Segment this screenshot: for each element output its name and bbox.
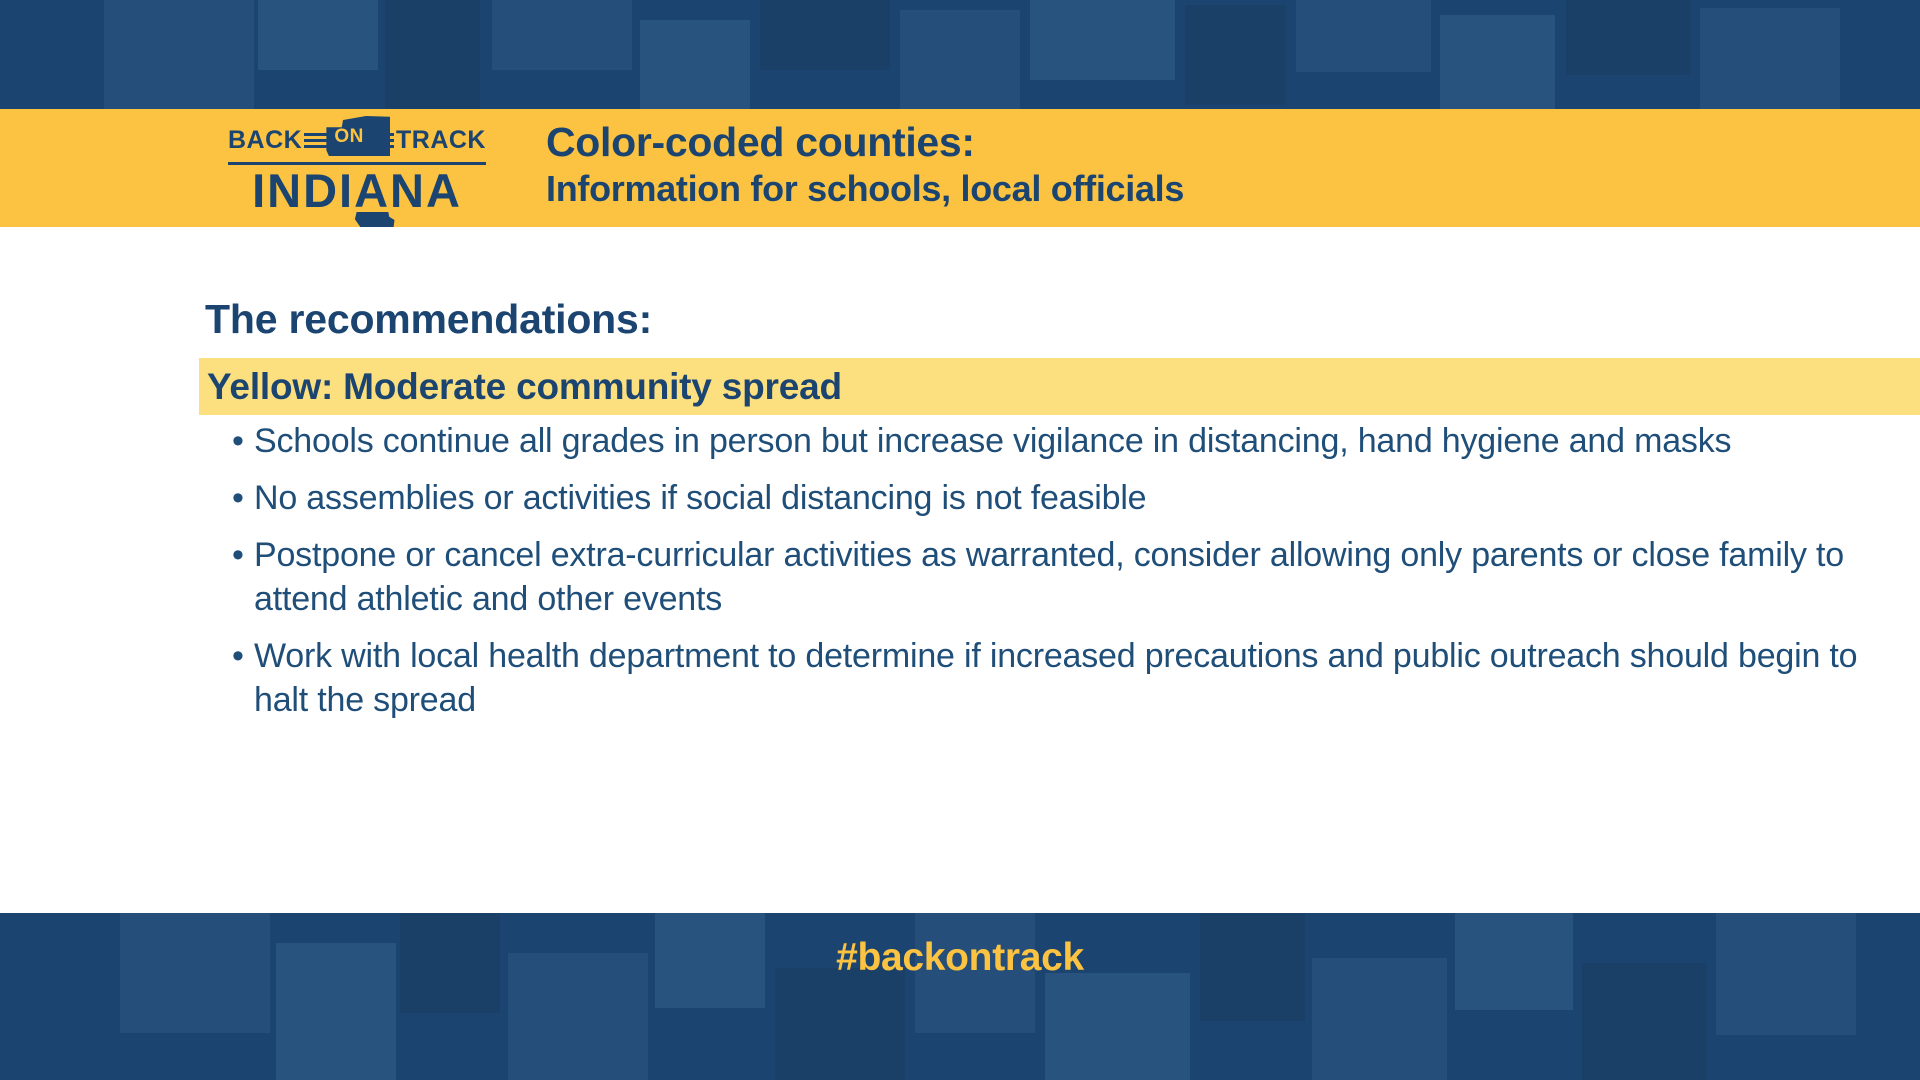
list-item: • Schools continue all grades in person …	[232, 419, 1892, 463]
map-texture-shape	[385, 0, 480, 109]
map-texture-shape	[1700, 8, 1840, 109]
list-item-text: No assemblies or activities if social di…	[254, 476, 1146, 520]
logo-top-row: BACK ON TRACK	[228, 120, 486, 160]
back-on-track-indiana-logo: BACK ON TRACK INDIANA	[228, 120, 486, 220]
map-texture-shape	[258, 0, 378, 70]
map-texture-shape	[900, 10, 1020, 109]
footer-hashtag: #backontrack	[0, 913, 1920, 1003]
logo-rule-left-icon	[304, 129, 328, 151]
map-texture-shape	[492, 0, 632, 70]
list-item-text: Postpone or cancel extra-curricular acti…	[254, 533, 1864, 621]
logo-back-text: BACK	[228, 128, 302, 153]
list-item-text: Schools continue all grades in person bu…	[254, 419, 1731, 463]
map-texture-shape	[104, 0, 254, 109]
logo-indiana-text: INDIANA	[228, 166, 486, 216]
content-area: The recommendations: Yellow: Moderate co…	[0, 227, 1920, 913]
level-band-label: Yellow: Moderate community spread	[207, 366, 842, 408]
map-texture-shape	[1440, 15, 1555, 109]
list-item: • No assemblies or activities if social …	[232, 476, 1892, 520]
map-texture-shape	[1185, 5, 1285, 105]
header-title-block: Color-coded counties: Information for sc…	[546, 118, 1846, 212]
top-navy-banner	[0, 0, 1920, 109]
bullet-dot-icon: •	[232, 476, 254, 520]
section-heading: The recommendations:	[205, 295, 652, 343]
map-texture-shape	[760, 0, 890, 70]
logo-on-text: ON	[326, 126, 371, 148]
list-item-text: Work with local health department to det…	[254, 634, 1864, 722]
list-item: • Postpone or cancel extra-curricular ac…	[232, 533, 1892, 621]
map-texture-shape	[1296, 0, 1431, 72]
bullet-dot-icon: •	[232, 419, 254, 463]
indiana-state-badge-icon: ON	[326, 122, 371, 158]
recommendations-list: • Schools continue all grades in person …	[232, 419, 1892, 735]
map-texture-shape	[1566, 0, 1691, 75]
level-band-yellow: Yellow: Moderate community spread	[199, 358, 1920, 415]
bullet-dot-icon: •	[232, 634, 254, 678]
bullet-dot-icon: •	[232, 533, 254, 577]
map-texture-shape	[640, 20, 750, 109]
presentation-slide: BACK ON TRACK INDIANA Color-coded counti…	[0, 0, 1920, 1080]
list-item: • Work with local health department to d…	[232, 634, 1892, 722]
logo-track-text: TRACK	[396, 128, 486, 153]
page-title: Color-coded counties:	[546, 118, 1846, 166]
page-subtitle: Information for schools, local officials	[546, 166, 1846, 212]
map-texture-shape	[1030, 0, 1175, 80]
